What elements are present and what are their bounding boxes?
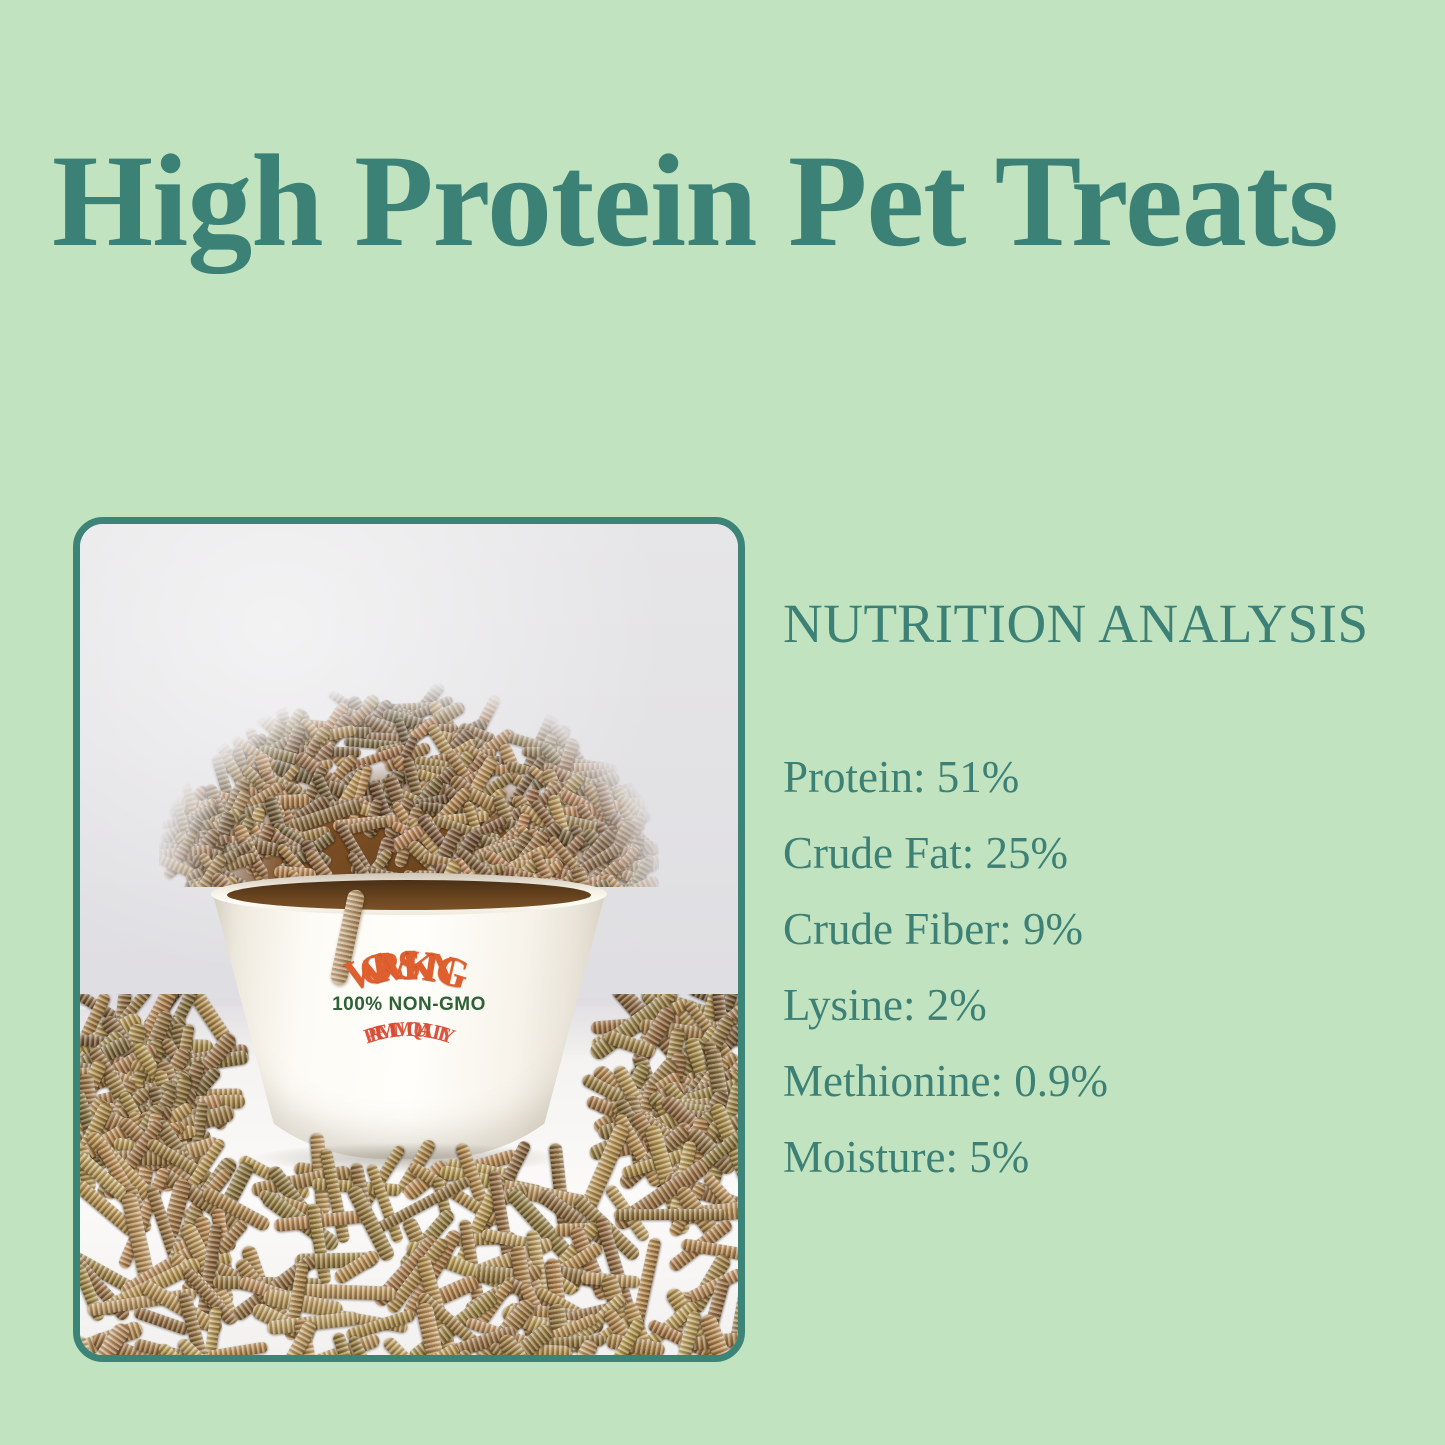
nutrition-panel: NUTRITION ANALYSIS Protein: 51%Crude Fat…: [783, 595, 1408, 1195]
mealworm-pile: [159, 672, 659, 887]
nutrition-item: Protein: 51%: [783, 739, 1408, 815]
nutrition-item: Methionine: 0.9%: [783, 1043, 1408, 1119]
poster-canvas: High Protein Pet Treats: [0, 0, 1445, 1445]
nutrition-item: Crude Fat: 25%: [783, 815, 1408, 891]
brand-name-arc: WORMSKING: [239, 942, 579, 992]
mealworm: [614, 1209, 726, 1221]
nutrition-heading: NUTRITION ANALYSIS: [783, 595, 1408, 653]
page-title: High Protein Pet Treats: [52, 136, 1387, 266]
nutrition-item: Moisture: 5%: [783, 1119, 1408, 1195]
nutrition-item: Lysine: 2%: [783, 967, 1408, 1043]
nutrition-item: Crude Fiber: 9%: [783, 891, 1408, 967]
nutrition-list: Protein: 51%Crude Fat: 25%Crude Fiber: 9…: [783, 739, 1408, 1195]
product-photo-frame: WORMSKING 100% NON-GMO PREMIUM QUALITY: [73, 517, 745, 1362]
product-photo: WORMSKING 100% NON-GMO PREMIUM QUALITY: [80, 524, 738, 1355]
